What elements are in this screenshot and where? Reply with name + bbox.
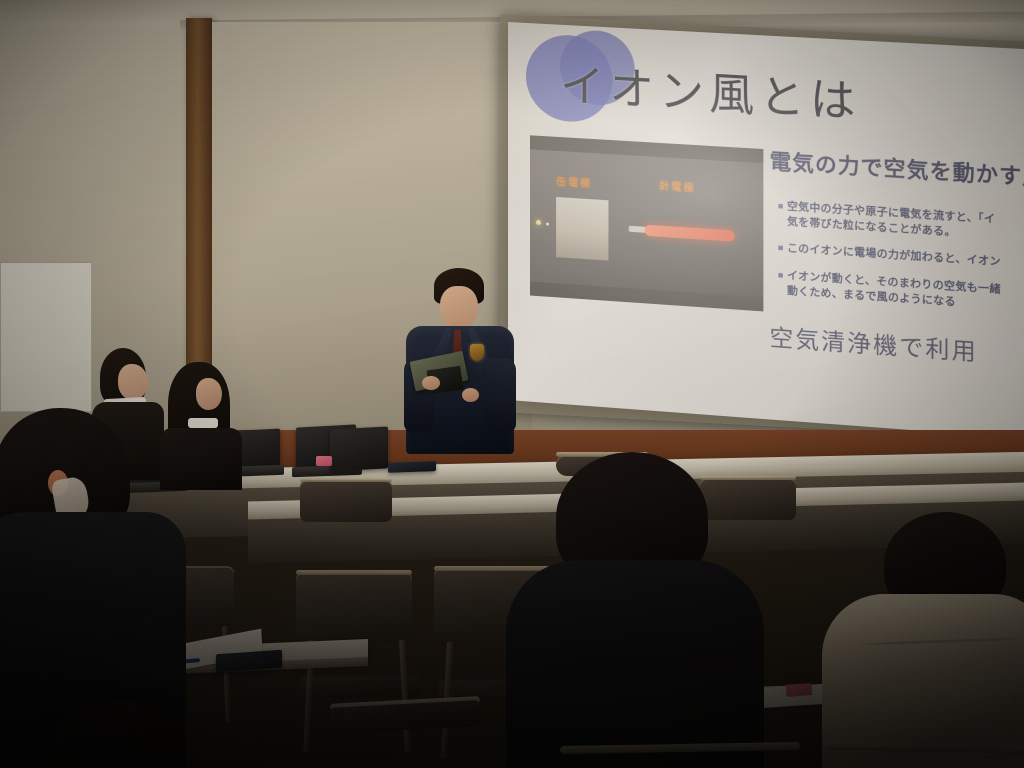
slide-footer-text: 空気清浄機で利用 bbox=[770, 318, 978, 367]
collar bbox=[188, 418, 218, 428]
desk-item-notebook bbox=[388, 461, 436, 473]
bullet-text: イオンが動くと、そのまわりの空気も一緒 動くため、まるで風のようになる bbox=[787, 268, 1001, 313]
whiteboard bbox=[0, 262, 92, 412]
list-item: ■ 空気中の分子や原子に電気を流すと、「イ 気を帯びた粒になることがある。 bbox=[778, 199, 1024, 249]
desk-item-pink-folder bbox=[316, 456, 332, 466]
hand bbox=[422, 376, 440, 390]
hand bbox=[462, 388, 479, 402]
bullet-dot-icon: ■ bbox=[778, 267, 787, 282]
list-item: ■ イオンが動くと、そのまわりの空気も一緒 動くため、まるで風のようになる bbox=[778, 267, 1024, 318]
diagram-label-can-electrode: 缶電極 bbox=[556, 173, 592, 190]
face bbox=[196, 378, 222, 410]
diagram-needle-electrode-shape bbox=[645, 225, 735, 242]
diagram-label-needle-electrode: 針電極 bbox=[659, 177, 696, 194]
classroom-presentation-scene: イオン風とは 缶電極 針電極 電気の力で空気を動かす風 ■ 空気中の分子や原子に… bbox=[0, 0, 1024, 768]
slide-title: イオン風とは bbox=[560, 49, 861, 130]
slide-bullet-list: ■ 空気中の分子や原子に電気を流すと、「イ 気を帯びた粒になることがある。 ■ … bbox=[778, 199, 1024, 331]
projector-screen: イオン風とは 缶電極 針電極 電気の力で空気を動かす風 ■ 空気中の分子や原子に… bbox=[508, 22, 1024, 440]
diagram-spark-icon bbox=[536, 220, 541, 225]
slide-heading: 電気の力で空気を動かす風 bbox=[770, 145, 1024, 192]
hair bbox=[56, 700, 184, 768]
torso bbox=[506, 560, 764, 768]
uniform-torso bbox=[160, 428, 242, 490]
school-emblem-icon bbox=[470, 344, 484, 361]
bullet-text: このイオンに電場の力が加わると、イオン bbox=[787, 241, 1001, 270]
bullet-text: 空気中の分子や原子に電気を流すと、「イ 気を帯びた粒になることがある。 bbox=[787, 199, 995, 243]
laptop bbox=[330, 426, 388, 471]
diagram-can-electrode-shape bbox=[556, 197, 608, 261]
bullet-dot-icon: ■ bbox=[778, 241, 787, 256]
face bbox=[118, 364, 148, 400]
bullet-dot-icon: ■ bbox=[778, 199, 787, 214]
arm bbox=[486, 358, 516, 432]
slide-diagram-electrodes: 缶電極 針電極 bbox=[530, 135, 763, 311]
desk-item-pink-folder bbox=[786, 683, 813, 697]
diagram-spark-icon bbox=[546, 222, 549, 225]
